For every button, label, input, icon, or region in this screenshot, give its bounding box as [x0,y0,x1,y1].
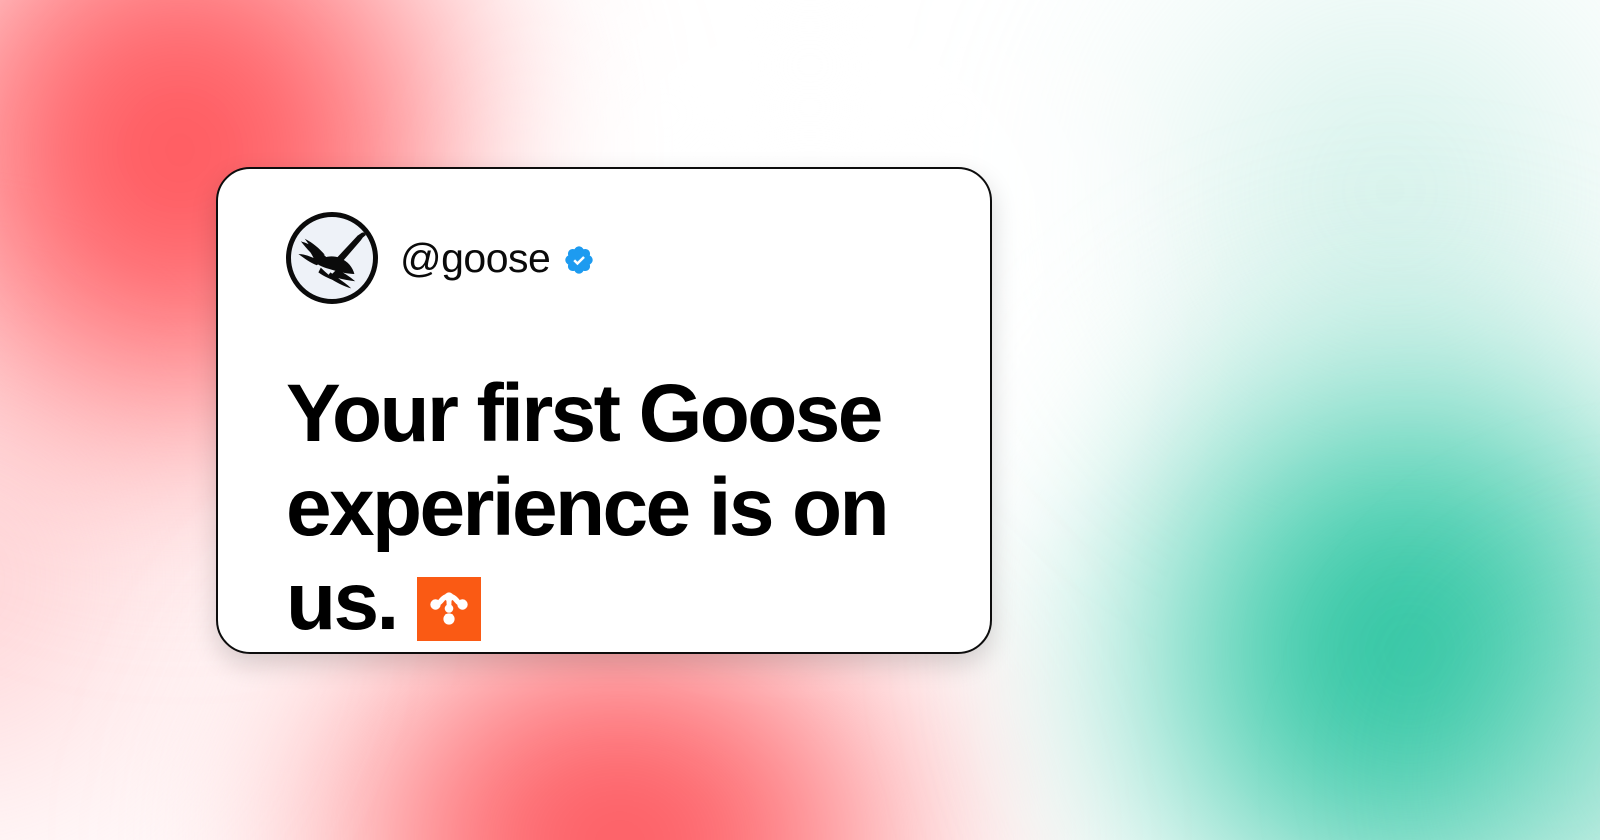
post-text-line-1: Your first Goose [286,367,926,461]
post-text-line-3: us. [286,556,397,647]
post-text-line-3-row: us. [286,555,926,649]
gradient-blob-green-edge [1380,520,1600,840]
verified-badge-icon[interactable] [563,244,595,276]
post-text: Your first Goose experience is on us. [286,367,926,649]
post-text-line-2: experience is on [286,461,926,555]
goose-glyph-icon [427,587,471,631]
social-post-card: @goose Your first Goose experience is on… [216,167,992,654]
account-handle[interactable]: @goose [400,238,550,279]
goose-block-emoji [417,577,481,641]
handle-group: @goose [400,238,595,279]
goose-bird-avatar[interactable] [286,212,378,304]
screenshot-stage: @goose Your first Goose experience is on… [0,0,1600,840]
gradient-blob-green-top [1010,0,1600,570]
flying-goose-icon [292,218,372,298]
account-header: @goose [286,211,940,305]
gradient-blob-green-main [980,210,1600,840]
card-content: @goose Your first Goose experience is on… [218,169,990,652]
